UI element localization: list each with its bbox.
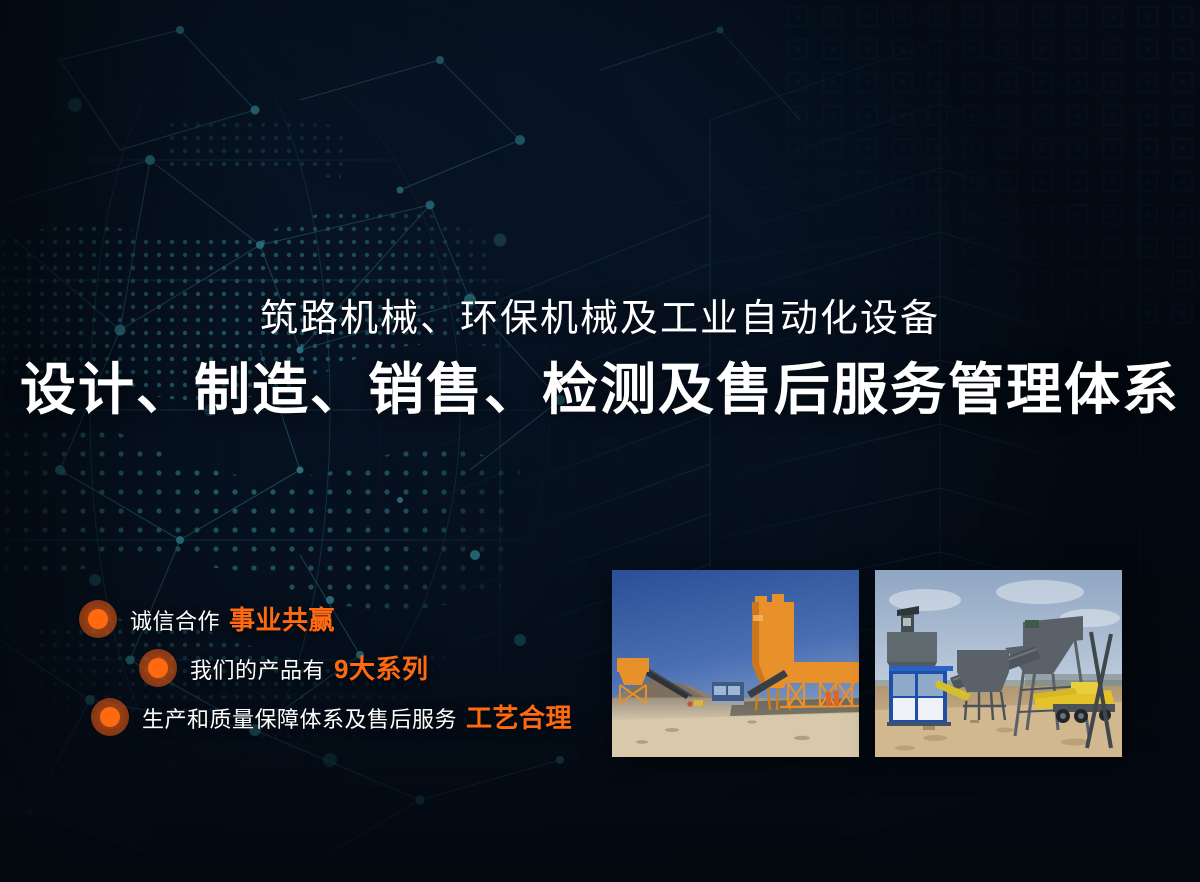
headline-primary: 筑路机械、环保机械及工业自动化设备 (0, 296, 1200, 344)
selling-point-item: 诚信合作事业共赢 (79, 594, 600, 643)
selling-point-accent: 9大系列 (334, 654, 428, 684)
selling-point-accent: 事业共赢 (229, 605, 335, 635)
selling-point-plain: 诚信合作 (130, 609, 220, 634)
selling-point-text: 诚信合作事业共赢 (130, 600, 335, 637)
hero-banner: 筑路机械、环保机械及工业自动化设备 设计、制造、销售、检测及售后服务管理体系 诚… (0, 0, 1200, 882)
orange-dot-icon (91, 698, 129, 736)
concrete-batching-plant-photo (612, 570, 859, 757)
selling-point-item: 我们的产品有9大系列 (139, 643, 600, 692)
headline-group: 筑路机械、环保机械及工业自动化设备 设计、制造、销售、检测及售后服务管理体系 (0, 296, 1200, 424)
orange-dot-icon (139, 649, 177, 687)
selling-point-item: 生产和质量保障体系及售后服务工艺合理 (91, 692, 600, 741)
orange-dot-icon (79, 600, 117, 638)
mobile-mixing-plant-photo (875, 570, 1122, 757)
photo-gallery (612, 570, 1122, 757)
selling-point-plain: 我们的产品有 (190, 658, 325, 683)
selling-point-plain: 生产和质量保障体系及售后服务 (142, 707, 457, 732)
selling-point-accent: 工艺合理 (466, 703, 572, 733)
selling-point-text: 生产和质量保障体系及售后服务工艺合理 (142, 698, 572, 735)
selling-points-list: 诚信合作事业共赢 我们的产品有9大系列 生产和质量保障体系及售后服务工艺合理 (0, 594, 600, 741)
selling-point-text: 我们的产品有9大系列 (190, 649, 428, 686)
headline-secondary: 设计、制造、销售、检测及售后服务管理体系 (0, 356, 1200, 424)
